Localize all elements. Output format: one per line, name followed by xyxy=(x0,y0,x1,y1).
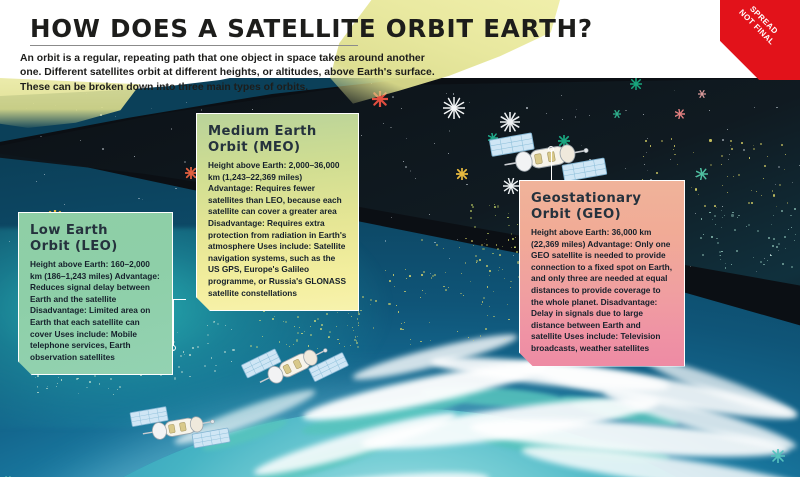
star-dot xyxy=(507,304,508,305)
star-dot xyxy=(499,267,500,268)
info-row-label: Height above Earth: xyxy=(531,227,609,237)
info-box-leo-title-line1: Low Earth xyxy=(30,223,161,239)
star-dot xyxy=(749,157,750,158)
star-dot xyxy=(357,346,358,347)
star-dot xyxy=(489,270,491,272)
star-dot xyxy=(102,148,104,150)
star-dot xyxy=(487,233,488,234)
info-row-label: Uses include: xyxy=(564,331,618,341)
star-burst-icon xyxy=(443,97,465,119)
star-burst-icon xyxy=(675,109,685,119)
star-dot xyxy=(486,244,488,246)
star-dot xyxy=(721,210,722,211)
star-dot xyxy=(741,142,743,144)
star-burst-icon xyxy=(696,168,708,180)
star-dot xyxy=(483,297,485,299)
star-dot xyxy=(207,325,208,326)
star-dot xyxy=(186,102,187,103)
spread-not-final-banner: SPREAD NOT FINAL xyxy=(720,0,800,80)
page-title: HOW DOES A SATELLITE ORBIT EARTH? xyxy=(30,14,593,43)
star-dot xyxy=(703,234,704,235)
star-dot xyxy=(502,269,503,270)
star-dot xyxy=(485,328,487,330)
star-dot xyxy=(171,128,172,129)
star-dot xyxy=(748,202,750,204)
star-dot xyxy=(731,214,733,216)
star-dot xyxy=(177,332,178,333)
info-row-label: Height above Earth: xyxy=(208,160,286,170)
star-dot xyxy=(405,166,407,168)
star-dot xyxy=(421,239,423,241)
star-dot xyxy=(508,319,510,321)
star-dot xyxy=(142,199,143,200)
star-dot xyxy=(443,248,444,249)
star-dot xyxy=(184,161,186,163)
star-dot xyxy=(472,206,474,208)
star-dot xyxy=(110,378,112,380)
star-dot xyxy=(409,275,411,277)
info-box-body: Height above Earth: 36,000 km (22,369 mi… xyxy=(531,227,673,355)
star-dot xyxy=(448,153,449,154)
star-dot xyxy=(753,257,754,258)
info-row-label: Uses include: xyxy=(257,241,311,251)
star-dot xyxy=(719,255,720,256)
star-dot xyxy=(712,219,713,220)
star-dot xyxy=(512,238,514,240)
info-row-label: Uses include: xyxy=(54,329,108,339)
star-dot xyxy=(151,108,152,109)
spread-page: HOW DOES A SATELLITE ORBIT EARTH? An orb… xyxy=(0,0,800,477)
star-dot xyxy=(516,251,518,253)
star-dot xyxy=(493,316,494,317)
star-dot xyxy=(731,264,732,265)
star-dot xyxy=(711,236,712,237)
star-dot xyxy=(710,164,712,166)
star-dot xyxy=(337,312,338,313)
star-burst-icon xyxy=(456,168,468,180)
star-dot xyxy=(513,255,514,256)
star-dot xyxy=(727,129,728,130)
star-dot xyxy=(189,354,191,356)
star-burst-icon xyxy=(185,167,197,179)
leader-line-geo xyxy=(551,150,552,181)
star-dot xyxy=(468,337,469,338)
star-dot xyxy=(429,214,430,215)
star-dot xyxy=(370,299,371,300)
star-dot xyxy=(449,258,450,259)
star-dot xyxy=(729,154,730,155)
star-dot xyxy=(643,114,644,115)
info-box-leo-title: Low Earth Orbit (LEO) xyxy=(30,223,161,254)
star-dot xyxy=(181,371,183,373)
star-dot xyxy=(460,293,461,294)
star-dot xyxy=(709,139,711,141)
star-dot xyxy=(207,343,208,344)
star-dot xyxy=(117,389,118,390)
star-dot xyxy=(445,272,446,273)
star-burst-icon xyxy=(630,78,642,90)
star-dot xyxy=(489,306,490,307)
star-dot xyxy=(496,244,497,245)
star-dot xyxy=(480,335,482,337)
star-dot xyxy=(778,243,780,245)
info-row-label: Disadvantage: xyxy=(601,297,658,307)
info-box-meo-title: Medium Earth Orbit (MEO) xyxy=(208,124,347,155)
star-dot xyxy=(719,251,721,253)
star-dot xyxy=(498,270,499,271)
star-dot xyxy=(482,301,483,302)
star-dot xyxy=(355,336,356,337)
star-dot xyxy=(738,215,739,216)
star-dot xyxy=(448,287,449,288)
star-dot xyxy=(76,378,77,379)
star-dot xyxy=(671,138,672,139)
star-dot xyxy=(358,325,359,326)
star-dot xyxy=(763,264,765,266)
star-dot xyxy=(673,149,674,150)
star-dot xyxy=(471,240,473,242)
star-dot xyxy=(489,275,490,276)
star-dot xyxy=(502,246,503,247)
leo-satellite xyxy=(119,379,242,477)
star-dot xyxy=(476,262,477,263)
info-box-geo-rows: Height above Earth: 36,000 km (22,369 mi… xyxy=(531,227,673,355)
info-box-body: Height above Earth: 2,000–36,000 km (1,2… xyxy=(208,160,347,299)
star-dot xyxy=(576,109,577,110)
star-dot xyxy=(756,271,757,272)
intro-emphasis: three main types of orbits. xyxy=(178,82,308,93)
star-dot xyxy=(388,303,390,305)
star-dot xyxy=(761,195,762,196)
info-box-meo-title-line2: Orbit (MEO) xyxy=(208,140,347,156)
star-dot xyxy=(497,205,499,207)
star-dot xyxy=(362,296,364,298)
star-dot xyxy=(385,240,386,241)
star-dot xyxy=(794,240,795,241)
info-box-leo: Low Earth Orbit (LEO) Height above Earth… xyxy=(18,212,173,375)
star-dot xyxy=(443,286,445,288)
star-dot xyxy=(499,254,501,256)
star-dot xyxy=(493,291,494,292)
star-dot xyxy=(403,161,404,162)
star-dot xyxy=(390,127,391,128)
star-dot xyxy=(492,253,494,255)
star-dot xyxy=(722,139,724,141)
star-dot xyxy=(700,237,702,239)
star-dot xyxy=(481,304,482,305)
star-dot xyxy=(725,263,726,264)
star-dot xyxy=(214,370,216,372)
star-dot xyxy=(473,245,474,246)
star-burst-icon xyxy=(771,449,785,463)
star-dot xyxy=(174,377,176,379)
star-dot xyxy=(421,274,422,275)
star-dot xyxy=(510,281,511,282)
star-dot xyxy=(37,387,38,388)
star-dot xyxy=(183,351,184,352)
info-row-label: Height above Earth: xyxy=(30,259,108,269)
star-dot xyxy=(475,255,477,257)
star-dot xyxy=(446,93,447,94)
star-dot xyxy=(297,316,299,318)
star-dot xyxy=(721,164,722,165)
star-dot xyxy=(746,226,747,227)
leader-dot-geo xyxy=(548,146,554,152)
star-dot xyxy=(486,265,488,267)
star-dot xyxy=(482,248,484,250)
star-dot xyxy=(778,166,780,168)
star-dot xyxy=(392,96,394,98)
info-box-geo-title-line2: Orbit (GEO) xyxy=(531,207,673,223)
star-dot xyxy=(691,187,692,188)
star-dot xyxy=(134,156,135,157)
star-dot xyxy=(469,102,470,103)
star-dot xyxy=(89,381,91,383)
leader-line-leo-elbow xyxy=(172,299,186,300)
star-dot xyxy=(420,341,422,343)
star-dot xyxy=(773,238,775,240)
star-dot xyxy=(119,386,121,388)
star-dot xyxy=(401,323,402,324)
star-dot xyxy=(776,246,778,248)
star-dot xyxy=(504,278,505,279)
star-dot xyxy=(494,204,495,205)
info-row-label: Advantage: xyxy=(208,183,253,193)
star-dot xyxy=(514,247,516,249)
info-box-geo-title-line1: Geostationary xyxy=(531,191,673,207)
star-dot xyxy=(373,327,374,328)
intro-paragraph: An orbit is a regular, repeating path th… xyxy=(20,52,440,95)
star-dot xyxy=(734,229,736,231)
star-dot xyxy=(252,109,253,110)
star-dot xyxy=(474,226,476,228)
star-dot xyxy=(728,159,729,160)
star-dot xyxy=(515,237,516,238)
star-dot xyxy=(494,206,496,208)
star-dot xyxy=(674,145,676,147)
star-dot xyxy=(434,143,435,144)
star-dot xyxy=(661,140,663,142)
star-dot xyxy=(644,164,645,165)
star-dot xyxy=(457,239,458,240)
star-dot xyxy=(508,213,509,214)
star-dot xyxy=(175,188,176,189)
info-box-leo-rows: Height above Earth: 160–2,000 km (186–1,… xyxy=(30,259,161,363)
star-dot xyxy=(791,266,793,268)
star-dot xyxy=(720,259,721,260)
star-dot xyxy=(743,149,744,150)
star-dot xyxy=(461,273,462,274)
star-dot xyxy=(695,213,696,214)
star-burst-icon xyxy=(698,90,706,98)
star-dot xyxy=(36,181,37,182)
star-dot xyxy=(748,224,750,226)
star-dot xyxy=(180,355,182,357)
info-box-body: Height above Earth: 160–2,000 km (186–1,… xyxy=(30,259,161,363)
star-dot xyxy=(356,342,358,344)
star-dot xyxy=(737,217,738,218)
star-dot xyxy=(471,204,473,206)
star-dot xyxy=(645,140,647,142)
star-dot xyxy=(690,266,691,267)
star-dot xyxy=(775,184,776,185)
star-dot xyxy=(389,280,391,282)
star-dot xyxy=(46,388,47,389)
info-row-value: Reduces signal delay between Earth and t… xyxy=(30,282,150,304)
info-box-meo-rows: Height above Earth: 2,000–36,000 km (1,2… xyxy=(208,160,347,299)
star-dot xyxy=(674,90,675,91)
star-dot xyxy=(487,286,489,288)
star-dot xyxy=(507,217,508,218)
star-dot xyxy=(709,110,710,111)
star-dot xyxy=(487,315,488,316)
info-box-meo-title-line1: Medium Earth xyxy=(208,124,347,140)
star-dot xyxy=(64,204,65,205)
star-dot xyxy=(436,244,438,246)
star-dot xyxy=(738,174,739,175)
star-dot xyxy=(423,271,425,273)
star-dot xyxy=(693,152,694,153)
star-dot xyxy=(465,262,467,264)
star-dot xyxy=(259,320,260,321)
info-row-label: Disadvantage: xyxy=(208,218,265,228)
star-dot xyxy=(785,248,786,249)
title-underline xyxy=(30,45,358,46)
star-dot xyxy=(698,194,699,195)
star-dot xyxy=(434,274,435,275)
star-dot xyxy=(495,215,496,216)
info-box-leo-title-line2: Orbit (LEO) xyxy=(30,239,161,255)
star-dot xyxy=(721,251,723,253)
star-dot xyxy=(457,331,458,332)
star-dot xyxy=(357,336,358,337)
star-dot xyxy=(231,361,232,362)
leader-line-leo xyxy=(173,300,174,346)
star-dot xyxy=(714,205,716,207)
star-dot xyxy=(44,174,45,175)
star-dot xyxy=(721,155,722,156)
star-dot xyxy=(361,135,362,136)
star-dot xyxy=(178,366,180,368)
star-dot xyxy=(99,383,100,384)
star-dot xyxy=(47,386,48,387)
info-row-label: Disadvantage: xyxy=(30,305,87,315)
star-dot xyxy=(479,259,481,261)
star-dot xyxy=(189,376,190,377)
star-dot xyxy=(272,318,274,320)
star-dot xyxy=(481,244,483,246)
star-dot xyxy=(511,233,512,234)
star-dot xyxy=(463,295,464,296)
star-dot xyxy=(473,340,474,341)
star-dot xyxy=(650,179,651,180)
star-dot xyxy=(721,227,722,228)
star-dot xyxy=(445,289,447,291)
star-dot xyxy=(375,300,376,301)
star-dot xyxy=(115,116,116,117)
star-dot xyxy=(497,248,499,250)
star-dot xyxy=(779,184,780,185)
star-dot xyxy=(722,206,723,207)
star-dot xyxy=(352,327,353,328)
meo-satellite xyxy=(232,315,358,417)
star-dot xyxy=(510,287,511,288)
star-dot xyxy=(470,281,471,282)
star-dot xyxy=(138,198,140,200)
star-dot xyxy=(625,110,626,111)
star-dot xyxy=(517,224,518,225)
star-dot xyxy=(484,243,485,244)
star-dot xyxy=(756,191,757,192)
star-dot xyxy=(459,247,460,248)
info-row-label: Advantage: xyxy=(115,271,160,281)
star-dot xyxy=(727,176,728,177)
star-dot xyxy=(391,217,392,218)
info-box-meo: Medium Earth Orbit (MEO) Height above Ea… xyxy=(196,113,359,311)
star-dot xyxy=(764,165,766,167)
star-dot xyxy=(40,136,42,138)
star-dot xyxy=(781,144,783,146)
star-dot xyxy=(727,192,728,193)
info-box-geo-title: Geostationary Orbit (GEO) xyxy=(531,191,673,222)
info-row-label: Advantage: xyxy=(587,239,632,249)
star-dot xyxy=(722,217,723,218)
star-dot xyxy=(351,316,352,317)
info-box-geo: Geostationary Orbit (GEO) Height above E… xyxy=(519,180,685,367)
star-dot xyxy=(406,138,407,139)
star-dot xyxy=(670,159,671,160)
